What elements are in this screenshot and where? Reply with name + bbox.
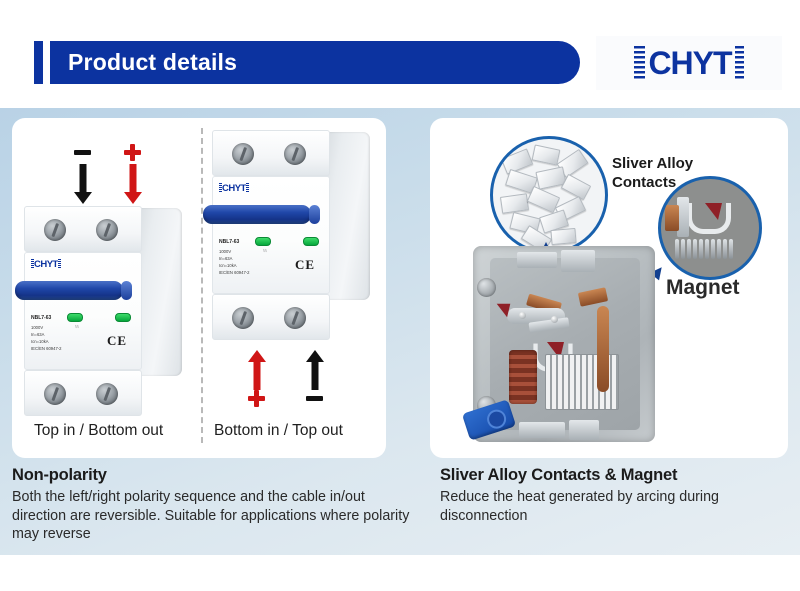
terminal-screw <box>44 383 66 405</box>
caption-non-polarity: Non-polarity Both the left/right polarit… <box>12 466 412 544</box>
plus-symbol-v-icon <box>130 144 135 161</box>
magnet-closeup <box>658 176 762 280</box>
breaker-bottom-terminals <box>24 370 142 416</box>
minus-symbol-icon <box>306 396 323 401</box>
breaker-top-terminals <box>24 206 142 252</box>
caption-title: Non-polarity <box>12 466 412 485</box>
wiring-schematic-icon: ⌇⌇ <box>75 325 79 330</box>
caption-body: Reduce the heat generated by arcing duri… <box>440 488 790 525</box>
status-led <box>115 313 131 322</box>
bottom-white-band <box>0 555 800 591</box>
breaker-face: CHYT NBL7-63 1000V In=63A Icn=10kA IEC/E… <box>24 252 142 370</box>
terminal-screw <box>44 219 66 241</box>
status-led <box>67 313 83 322</box>
breaker-current-text: In=63A <box>219 256 232 261</box>
breaker-standard-text: IEC/EN 60947-2 <box>31 346 62 351</box>
logo-right-bars-icon <box>735 46 744 80</box>
figure-b-sublabel: Bottom in / Top out <box>214 422 343 440</box>
logo-left-bars-icon <box>634 46 645 80</box>
breaker-unit-a: CHYT NBL7-63 1000V In=63A Icn=10kA IEC/E… <box>24 206 184 416</box>
terminal-screw <box>232 307 254 329</box>
header-title-pill: Product details <box>50 41 580 84</box>
mounting-screw <box>477 278 496 297</box>
ce-mark-icon: CE <box>295 257 315 273</box>
caption-body: Both the left/right polarity sequence an… <box>12 488 412 544</box>
black-up-arrow-icon <box>306 350 323 390</box>
caption-contacts-magnet: Sliver Alloy Contacts & Magnet Reduce th… <box>440 466 790 525</box>
figure-a-sublabel: Top in / Bottom out <box>34 422 163 440</box>
red-down-arrow-icon <box>124 164 141 204</box>
breaker-voltage-text: 1000V <box>31 325 43 330</box>
status-led <box>303 237 319 246</box>
breaker-lever-cap <box>121 281 132 300</box>
breaker-voltage-text: 1000V <box>219 249 231 254</box>
company-logo: CHYT <box>596 36 782 90</box>
contacts-magnet-card: Sliver Alloy Contacts Magnet <box>430 118 788 458</box>
trip-coil <box>509 350 537 404</box>
breaker-current-text: In=63A <box>31 332 44 337</box>
caption-title: Sliver Alloy Contacts & Magnet <box>440 466 790 485</box>
breaker-model-text: NBL7-63 <box>219 239 239 245</box>
plus-symbol-v-icon <box>254 390 259 407</box>
terminal-screw <box>284 143 306 165</box>
breaker-breaking-text: Icn=10kA <box>31 339 49 344</box>
breaker-model-text: NBL7-63 <box>31 315 51 321</box>
page-title: Product details <box>68 41 237 84</box>
page-header: Product details CHYT <box>0 0 800 108</box>
breaker-top-terminals <box>212 130 330 176</box>
black-down-arrow-icon <box>74 164 91 204</box>
wiring-schematic-icon: ⌇⌇ <box>263 249 267 254</box>
breaker-bottom-terminals <box>212 294 330 340</box>
mcb-cutaway-illustration <box>473 246 655 442</box>
product-details-page: Product details CHYT <box>0 0 800 591</box>
breaker-side-body <box>136 208 182 376</box>
callout-contacts-line1: Sliver Alloy <box>612 154 693 173</box>
breaker-face: CHYT NBL7-63 1000V In=63A Icn=10kA IEC/E… <box>212 176 330 294</box>
breaker-standard-text: IEC/EN 60947-2 <box>219 270 250 275</box>
breaker-lever[interactable] <box>15 281 123 300</box>
minus-symbol-icon <box>74 150 91 155</box>
breaker-lever[interactable] <box>203 205 311 224</box>
header-accent-tick <box>34 41 43 84</box>
breaker-brand-label: CHYT <box>31 259 61 270</box>
breaker-unit-b: CHYT NBL7-63 1000V In=63A Icn=10kA IEC/E… <box>212 130 372 340</box>
terminal-screw <box>96 383 118 405</box>
red-up-arrow-icon <box>248 350 265 390</box>
non-polarity-card: CHYT NBL7-63 1000V In=63A Icn=10kA IEC/E… <box>12 118 386 458</box>
terminal-screw <box>284 307 306 329</box>
status-led <box>255 237 271 246</box>
logo-text: CHYT <box>645 46 734 80</box>
breaker-breaking-text: Icn=10kA <box>219 263 237 268</box>
terminal-screw <box>96 219 118 241</box>
breaker-lever-cap <box>309 205 320 224</box>
breaker-brand-label: CHYT <box>219 183 249 194</box>
figure-divider <box>201 128 203 443</box>
breaker-side-body <box>324 132 370 300</box>
callout-label-magnet: Magnet <box>666 278 740 297</box>
terminal-screw <box>232 143 254 165</box>
ce-mark-icon: CE <box>107 333 127 349</box>
sliver-alloy-contacts-closeup <box>490 136 608 254</box>
